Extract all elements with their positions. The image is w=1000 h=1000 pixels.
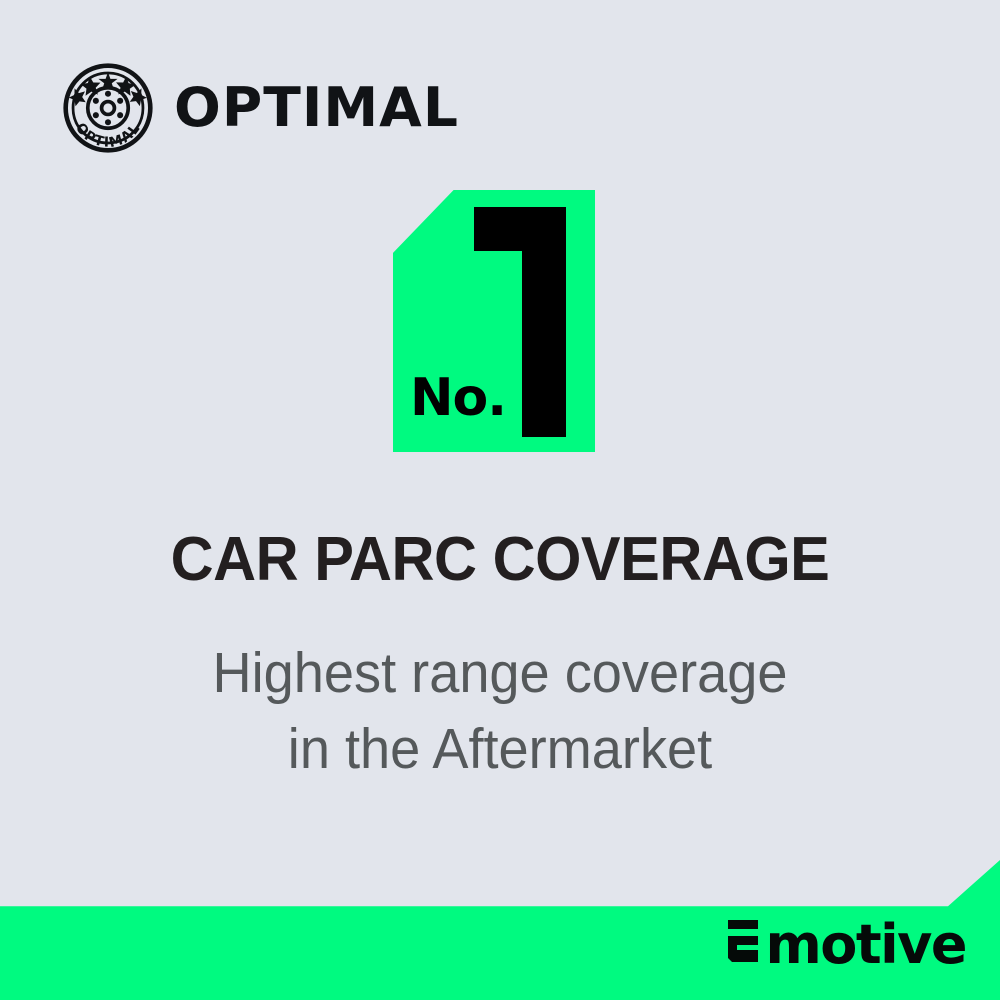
emotive-e-icon: [724, 918, 762, 970]
subtitle-line-2: in the Aftermarket: [25, 712, 975, 788]
rank-prefix-label: No.: [410, 372, 506, 424]
optimal-badge-icon: OPTIMAL: [62, 62, 154, 154]
optimal-logo: OPTIMAL OPTIMAL: [62, 62, 453, 154]
optimal-wordmark: OPTIMAL: [174, 81, 459, 135]
subtitle-line-1: Highest range coverage: [25, 636, 975, 712]
numeral-stem: [522, 207, 566, 437]
subtitle: Highest range coverage in the Aftermarke…: [25, 636, 975, 788]
emotive-logo: motive: [724, 918, 966, 970]
promo-graphic: OPTIMAL OPTIMAL No. CAR PARC COVERAGE Hi…: [0, 0, 1000, 1000]
emotive-wordmark-text: motive: [765, 919, 966, 970]
page-title: CAR PARC COVERAGE: [20, 529, 980, 591]
